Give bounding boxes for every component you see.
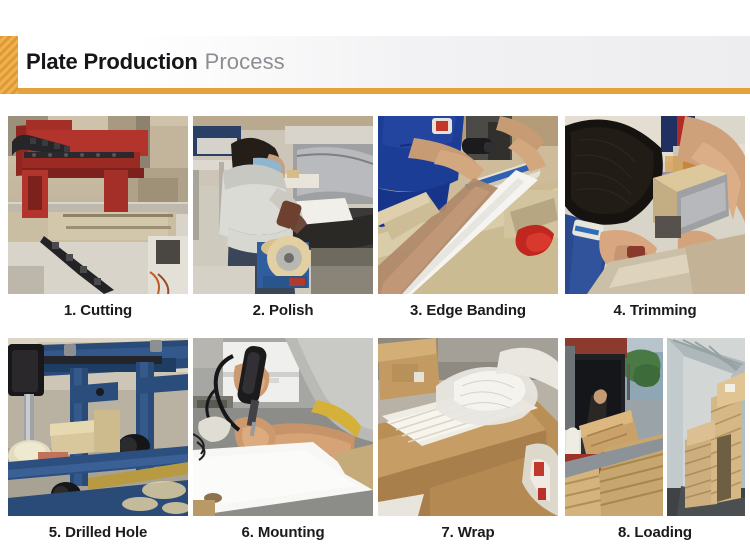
process-step-caption: 3. Edge Banding: [378, 294, 558, 326]
process-step-cell[interactable]: 8. Loading: [565, 338, 745, 548]
electric-screwdriver-mounting-photo: [193, 338, 373, 516]
edge-banding-roller-photo: [378, 116, 558, 294]
page-title-light: Process: [205, 49, 285, 75]
process-step-caption: 7. Wrap: [378, 516, 558, 548]
truck-container-loading-photo: [565, 338, 745, 516]
banner-accent-rule: [0, 88, 750, 94]
process-step-caption: 5. Drilled Hole: [8, 516, 188, 548]
process-step-cell[interactable]: 6. Mounting: [193, 338, 373, 548]
process-step-caption: 1. Cutting: [8, 294, 188, 326]
plate-production-process-page: Plate Production Process: [0, 0, 750, 538]
process-step-cell[interactable]: 2. Polish: [193, 116, 373, 326]
page-title: Plate Production Process: [26, 36, 285, 88]
gallery-row: 1. Cutting: [8, 116, 745, 326]
process-step-caption: 6. Mounting: [193, 516, 373, 548]
worker-trimming-edge-photo: [565, 116, 745, 294]
page-title-strong: Plate Production: [26, 49, 198, 75]
cnc-router-cutting-photo: [8, 116, 188, 294]
wrapped-panels-carton-photo: [378, 338, 558, 516]
worker-polishing-wheel-photo: [193, 116, 373, 294]
diagonal-stripe-accent-icon: [0, 36, 18, 94]
process-step-cell[interactable]: 3. Edge Banding: [378, 116, 558, 326]
process-step-caption: 4. Trimming: [565, 294, 745, 326]
section-header-banner: Plate Production Process: [0, 36, 750, 94]
process-gallery: 1. Cutting: [8, 116, 745, 548]
process-step-cell[interactable]: 7. Wrap: [378, 338, 558, 548]
blue-drilling-machine-photo: [8, 338, 188, 516]
process-step-cell[interactable]: 1. Cutting: [8, 116, 188, 326]
process-step-cell[interactable]: 4. Trimming: [565, 116, 745, 326]
process-step-caption: 8. Loading: [565, 516, 745, 548]
process-step-cell[interactable]: 5. Drilled Hole: [8, 338, 188, 548]
process-step-caption: 2. Polish: [193, 294, 373, 326]
gallery-row: 5. Drilled Hole: [8, 338, 745, 548]
